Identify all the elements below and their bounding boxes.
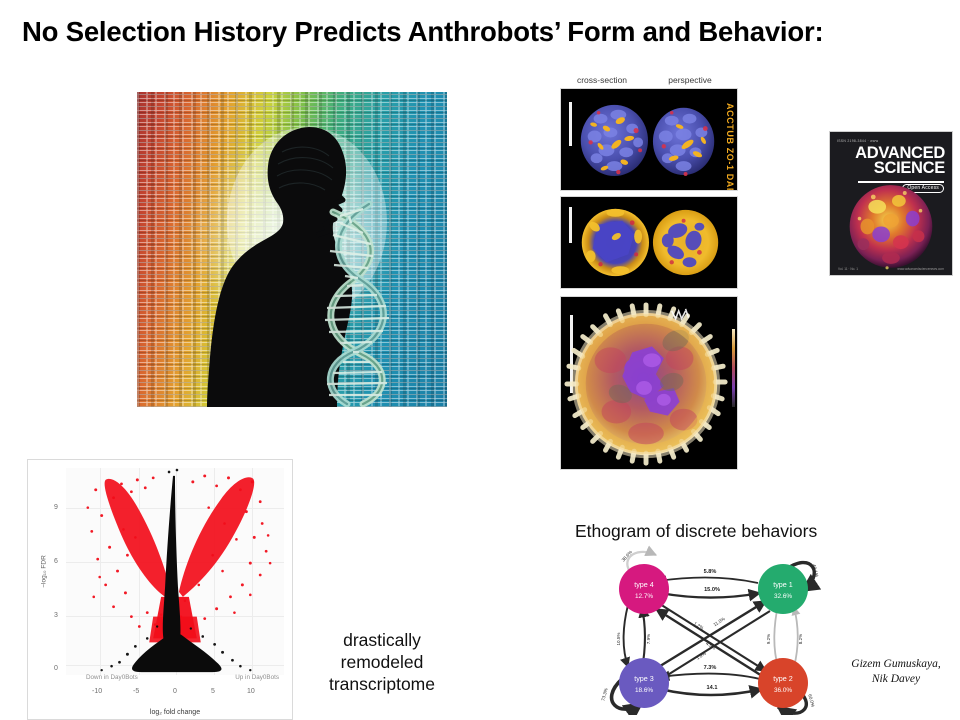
etho-node-type3[interactable]: type 3 18.6% (619, 658, 669, 708)
etho-node-type1[interactable]: type 1 32.6% (758, 564, 808, 614)
self-loop-label-type2: 60.0% (807, 694, 815, 708)
etho-node-pct-type3: 18.6% (635, 687, 653, 694)
immunostain-panel-bottom (560, 296, 738, 470)
ethogram-graph: 38.6% 40.1% 73.3% 60.0% 5.8% 15.0% 7.3% … (598, 543, 828, 715)
annotation-up: Up in Day0Bots (235, 674, 279, 681)
ytick-3: 3 (54, 612, 58, 619)
panel-caption-perspective: perspective (660, 75, 720, 85)
edge-label-type3-type4: 7.9% (646, 634, 651, 644)
intensity-colorbar (732, 329, 735, 407)
edge-type1-type2 (774, 605, 778, 667)
edge-type4-type3 (624, 605, 629, 667)
etho-node-pct-type1: 32.6% (774, 593, 792, 600)
ytick-0: 0 (54, 665, 58, 672)
xtick-neg5: -5 (133, 688, 139, 695)
silhouette-and-helix (137, 92, 447, 407)
xtick-neg10: -10 (92, 688, 102, 695)
etho-node-label-type2: type 2 (773, 674, 793, 683)
x-axis-label: log₂ fold change (66, 709, 284, 716)
xtick-5: 5 (211, 688, 215, 695)
edge-label-type2-type3: 7.3% (704, 665, 717, 671)
xtick-0: 0 (173, 688, 177, 695)
plot-area (66, 468, 284, 675)
cover-organoid-art (830, 132, 952, 275)
ethogram-title: Ethogram of discrete behaviors (575, 521, 817, 542)
etho-node-pct-type4: 12.7% (635, 593, 653, 600)
volcano-plot: 0 3 6 9 -10 -5 0 5 10 −log₁₀ FDR log₂ fo… (27, 459, 293, 720)
author-credits: Gizem Gumuskaya, Nik Davey (840, 657, 952, 687)
caption-line-3: transcriptome (297, 673, 467, 695)
immunostain-panel-middle (560, 196, 738, 289)
edge-label-type3-type2: 14.1 (707, 685, 718, 691)
organoid-render-top (561, 89, 737, 191)
self-loop-label-type3: 73.3% (600, 688, 608, 702)
etho-node-label-type4: type 4 (634, 580, 654, 589)
organoid-render-middle (561, 197, 737, 289)
edge-label-type1-type3: 1.9% (695, 651, 707, 661)
page-title: No Selection History Predicts Anthrobots… (22, 16, 942, 48)
y-axis-label: −log₁₀ FDR (41, 542, 48, 602)
edge-label-type4-type1: 15.0% (704, 587, 720, 593)
credit-line-2: Nik Davey (840, 672, 952, 687)
cover-footer-left: Vol. 11 · No. 1 (838, 267, 858, 271)
etho-node-pct-type2: 36.0% (774, 687, 792, 694)
edge-label-type1-type2: 9.2% (766, 634, 771, 644)
annotation-down: Down in Day0Bots (86, 674, 138, 681)
panel-caption-cross-section: cross-section (572, 75, 632, 85)
edge-type1-type4 (658, 578, 758, 584)
edge-label-type2-type1: 8.2% (798, 634, 803, 644)
etho-node-type4[interactable]: type 4 12.7% (619, 564, 669, 614)
transcriptome-caption: drastically remodeled transcriptome (297, 629, 467, 695)
caption-line-1: drastically (297, 629, 467, 651)
etho-node-label-type3: type 3 (634, 674, 654, 683)
journal-cover-advanced-science: ISSN 2198-3844 · www ADVANCED SCIENCE Op… (829, 131, 953, 276)
edge-label-type1-type4: 5.8% (704, 569, 717, 575)
ytick-6: 6 (54, 558, 58, 565)
credit-line-1: Gizem Gumuskaya, (840, 657, 952, 672)
etho-node-label-type1: type 1 (773, 580, 793, 589)
volcano-scatter (66, 468, 284, 675)
caption-line-2: remodeled (297, 651, 467, 673)
xtick-10: 10 (247, 688, 255, 695)
organoid-render-bottom (561, 297, 737, 469)
etho-node-type2[interactable]: type 2 36.0% (758, 658, 808, 708)
channel-label-vertical: ACCTUB ZO-1 DAPI (725, 103, 735, 191)
cover-footer-right: www.advancedsciencenews.com (897, 267, 944, 271)
genomics-dna-silhouette-image (137, 92, 447, 407)
edge-type2-type3 (660, 674, 760, 680)
edge-label-type4-type3: 10.5% (616, 632, 621, 645)
ytick-9: 9 (54, 504, 58, 511)
edge-type4-type1 (660, 593, 760, 598)
immunostain-panel-top: ACCTUB ZO-1 DAPI (560, 88, 738, 191)
